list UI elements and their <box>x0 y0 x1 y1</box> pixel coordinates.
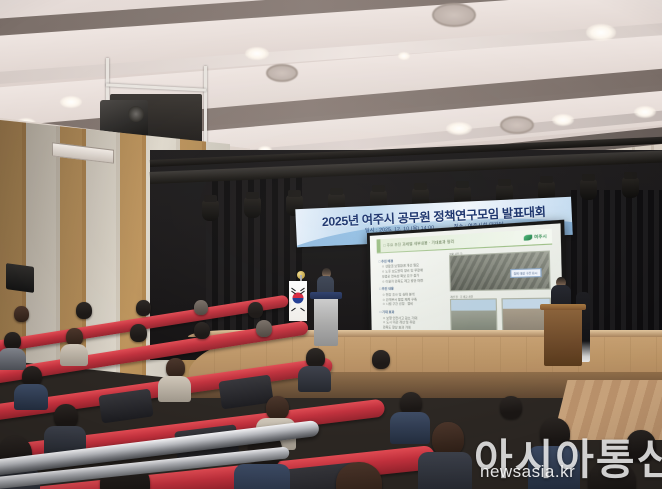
audience-head <box>500 396 522 419</box>
stage-light <box>244 197 261 218</box>
audience-head <box>130 324 147 342</box>
audience-body <box>390 412 430 444</box>
audience-head <box>256 320 272 337</box>
ceiling-light-ring <box>500 116 534 134</box>
audience-head <box>588 460 636 489</box>
slide-bullet-item: ㅇ 이용자 만족도 제고 방안 마련 <box>379 278 442 285</box>
wall-speaker <box>6 263 34 293</box>
audience-head <box>166 358 185 378</box>
stage-light <box>202 200 219 221</box>
rig-rail-top <box>106 83 206 91</box>
stage-lamp-row <box>150 176 662 206</box>
slide-photo-callout: 정비 대상 구간 표시 <box>510 268 541 278</box>
ceiling-downlight <box>446 122 472 135</box>
audience-body <box>14 384 48 410</box>
stage-light <box>622 177 639 198</box>
audience-body <box>158 376 191 402</box>
audience-head <box>136 300 151 316</box>
audience-body <box>60 344 88 366</box>
audience-head <box>626 430 656 462</box>
audience-head <box>194 322 210 339</box>
audience-body <box>0 348 26 370</box>
ceiling-downlight <box>552 114 574 126</box>
ceiling-downlight <box>586 24 616 41</box>
auditorium-photo: 2025년 여주시 공무원 정책연구모임 발표대회 일시 : 2025. 12.… <box>0 0 662 489</box>
audience-body <box>528 446 580 489</box>
ceiling-light-ring <box>432 3 476 27</box>
projector-lens-icon <box>128 106 144 122</box>
slide-header-bar: □ 주요 추진 과제별 세부내용 · 기대효과 정리 여주시 <box>377 229 553 254</box>
ceiling-downlight <box>634 106 656 118</box>
slide-photo-main: 정비 대상 구간 표시 <box>449 251 551 292</box>
audience-body <box>298 366 331 392</box>
audience-head <box>248 302 263 318</box>
audience-head <box>306 348 325 368</box>
audience-head <box>194 300 208 315</box>
center-podium-top <box>310 292 342 299</box>
stage-light <box>580 179 597 200</box>
ceiling-downlight <box>398 52 410 60</box>
city-logo-icon: 여주시 <box>523 233 547 241</box>
audience-head <box>266 396 289 420</box>
audience-head <box>14 306 29 322</box>
ceiling-downlight <box>245 47 269 60</box>
audience-head <box>432 422 464 456</box>
ceiling-light-ring <box>266 64 298 82</box>
audience-body <box>418 452 472 489</box>
slide-header-text: □ 주요 추진 과제별 세부내용 · 기대효과 정리 <box>383 239 454 248</box>
seat-back <box>98 389 153 424</box>
audience-head <box>372 350 390 369</box>
audience-body <box>234 464 290 489</box>
audience-head <box>76 302 92 319</box>
ceiling-downlight <box>60 96 82 108</box>
